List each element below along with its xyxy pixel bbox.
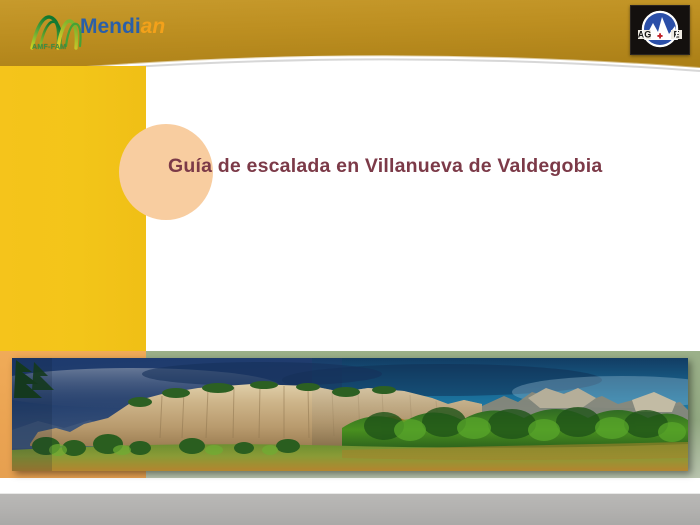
left-yellow-band xyxy=(0,66,146,351)
slide-canvas: AMF-FAM Mendian AG E Guía de escalada en… xyxy=(0,0,700,525)
brand-subtext: AMF-FAM xyxy=(32,44,66,51)
brand-wordmark: Mendian xyxy=(80,16,165,37)
panorama-photo xyxy=(12,358,688,471)
page-title: Guía de escalada en Villanueva de Valdeg… xyxy=(168,155,638,178)
brand-logo[interactable]: AMF-FAM Mendian xyxy=(28,4,208,58)
footer-bar xyxy=(0,493,700,525)
club-badge-icon[interactable]: AG E xyxy=(630,5,690,55)
brand-word-part-1: Mendi xyxy=(80,15,141,38)
brand-word-part-2: an xyxy=(141,15,166,38)
